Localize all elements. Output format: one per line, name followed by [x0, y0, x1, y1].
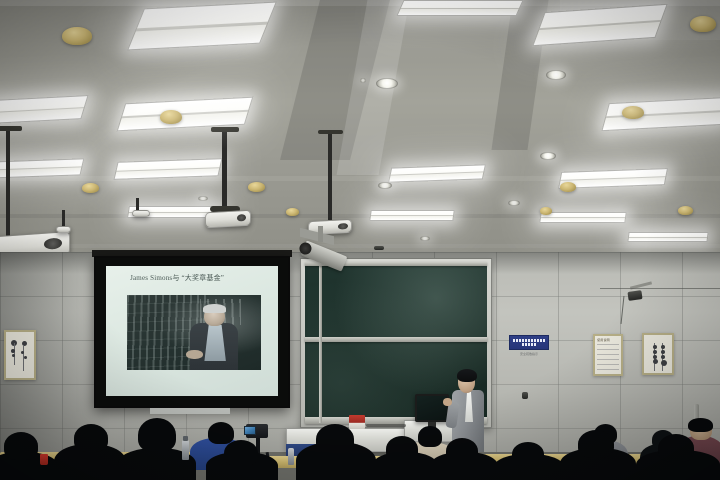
audience-head-foreground	[316, 424, 354, 454]
amber-ceiling-fixture	[82, 183, 99, 193]
ceiling-panel-light	[0, 95, 89, 125]
projector-lens-icon	[338, 223, 347, 230]
poster-dot	[11, 349, 15, 353]
ceiling-panel-light	[601, 97, 720, 131]
amber-ceiling-fixture	[540, 207, 552, 215]
audience-water-bottle	[182, 440, 189, 460]
ceiling-sensor-small	[56, 226, 71, 233]
poster-dot	[21, 351, 24, 354]
poster-right-diagram	[642, 333, 674, 375]
slide-photo	[127, 295, 261, 370]
slide-surface: James Simons与 “大奖章基金”	[106, 266, 278, 396]
ceiling-downlight	[420, 236, 430, 241]
ceiling-projector-center[interactable]	[205, 210, 251, 228]
wall-blue-sign-caption: 安全疏散指示	[509, 352, 549, 356]
lecture-hall-photo: EPSON Ja	[0, 0, 720, 480]
amber-ceiling-fixture	[62, 27, 92, 45]
poster-dot	[12, 354, 15, 357]
poster-dot	[653, 345, 657, 349]
slide-figure-hair	[203, 304, 226, 313]
audience-head-foreground	[4, 432, 38, 460]
poster-left-diagram	[9, 338, 31, 374]
poster-dot	[653, 355, 657, 359]
poster-dot	[661, 360, 667, 366]
projector-mount-pole-left	[6, 128, 10, 240]
projection-screen[interactable]: James Simons与 “大奖章基金”	[94, 256, 290, 408]
projector-mount-pole-center	[222, 130, 227, 212]
projector-ceiling-plate-right	[318, 130, 343, 134]
blue-sign-glyphs	[512, 339, 547, 346]
ceiling-band-horizontal-3	[0, 244, 720, 248]
wall-blue-sign	[509, 335, 549, 350]
poster-right-text-lines	[597, 344, 619, 371]
audience-red-cup	[40, 454, 48, 465]
ceiling-downlight	[540, 152, 556, 160]
ceiling-panel-light	[114, 158, 223, 180]
podium-cable	[366, 424, 406, 427]
audience-head-foreground	[578, 430, 614, 458]
projector-mount-pole-right	[328, 132, 332, 220]
ceiling-downlight	[360, 78, 366, 83]
bottle-cap	[183, 436, 188, 441]
ceiling-panel-light	[0, 158, 84, 178]
ceiling-downlight	[376, 78, 398, 89]
amber-ceiling-fixture	[622, 106, 644, 119]
amber-ceiling-fixture	[560, 182, 576, 192]
blackboard-mid-rail	[305, 337, 487, 342]
ceiling-speaker-small	[132, 210, 150, 217]
amber-ceiling-fixture	[248, 182, 265, 192]
amber-ceiling-fixture	[286, 208, 299, 216]
camcorder-lcd-screen	[244, 426, 256, 435]
poster-dot	[24, 356, 27, 359]
security-camera-center-arm	[318, 226, 323, 242]
ceiling-downlight	[508, 200, 520, 206]
audience-water-bottle	[288, 448, 294, 465]
ceiling-downlight	[198, 196, 208, 201]
projector-ceiling-plate-left	[0, 126, 22, 131]
audience-head-foreground	[446, 438, 478, 464]
poster-dot	[653, 350, 657, 354]
poster-right-text: 使用说明	[593, 334, 623, 376]
presenter-hair	[457, 369, 477, 382]
wall-outlet	[522, 392, 528, 399]
projector-lens-icon	[44, 237, 62, 250]
ceiling-speaker-dot	[374, 246, 384, 250]
poster-right-text-title: 使用说明	[597, 338, 610, 342]
audience-head-foreground	[658, 434, 694, 462]
amber-ceiling-fixture	[690, 16, 716, 32]
poster-right-diagram-body	[647, 340, 669, 370]
podium-red-object	[349, 415, 365, 429]
poster-dot	[653, 359, 658, 364]
poster-dot	[661, 345, 665, 349]
audience-head	[208, 422, 234, 444]
security-camera-right	[627, 290, 642, 301]
audience-head-hair	[688, 418, 713, 432]
projector-lens-icon	[237, 214, 247, 222]
audience-head-foreground	[74, 424, 108, 452]
ceiling-panel-light	[127, 2, 277, 51]
projector-ceiling-plate-center	[211, 127, 239, 132]
audience-head-foreground	[386, 436, 418, 462]
ceiling-panel-light	[369, 210, 455, 221]
poster-left-wall	[4, 330, 36, 380]
presenter-hand	[443, 398, 452, 406]
ceiling-panel-light	[627, 232, 708, 242]
wall-conduit-horizontal	[600, 288, 720, 289]
poster-dot	[661, 350, 665, 354]
blackboard-panel-divider	[319, 263, 322, 423]
audience-head	[418, 426, 442, 447]
poster-dot	[661, 355, 665, 359]
ceiling-panel-light	[539, 212, 627, 223]
amber-ceiling-fixture	[678, 206, 693, 215]
ceiling-panel-light	[396, 0, 523, 16]
projection-screen-bottom-bar	[150, 408, 230, 414]
audience-head-foreground	[138, 418, 176, 452]
slide-title: James Simons与 “大奖章基金”	[130, 273, 224, 283]
ceiling: EPSON	[0, 0, 720, 268]
amber-ceiling-fixture	[160, 110, 182, 124]
ceiling-downlight	[546, 70, 566, 80]
ceiling-downlight	[378, 182, 392, 189]
audience-head-foreground	[512, 442, 544, 466]
audience-head-foreground	[224, 440, 258, 466]
